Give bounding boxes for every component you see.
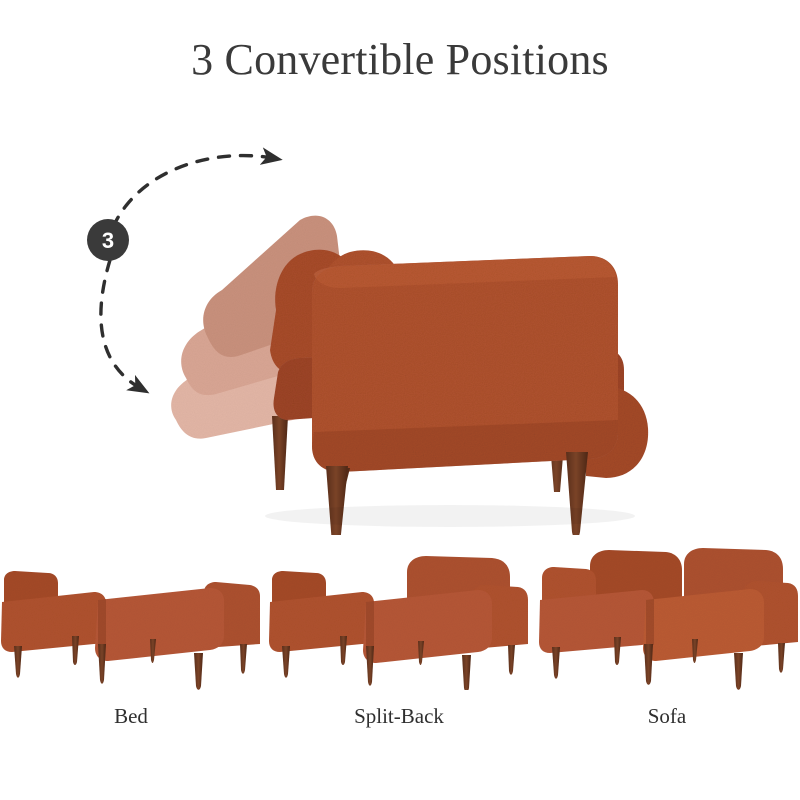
caption-split-back: Split-Back [266, 702, 532, 730]
split-leg-6 [508, 645, 515, 675]
bed-seat-right [95, 588, 224, 661]
split-leg-3 [366, 646, 374, 686]
thumbnail-split-back[interactable] [266, 540, 532, 690]
caption-bed: Bed [0, 702, 264, 730]
hero-illustration: 3 [0, 120, 800, 535]
split-leg-2 [340, 636, 347, 665]
bed-body [1, 571, 260, 661]
split-leg-1 [282, 646, 290, 678]
sofa-leg-5 [734, 653, 743, 690]
thumbnail-bed[interactable] [0, 540, 264, 690]
bed-leg-6 [240, 644, 247, 674]
bed-leg-5 [194, 653, 203, 690]
split-seam [366, 601, 374, 647]
product-infographic: 3 Convertible Positions [0, 0, 800, 800]
sofa-leg-1 [552, 647, 560, 679]
badge-number: 3 [102, 228, 114, 253]
step-badge: 3 [87, 219, 129, 261]
thumbnail-sofa[interactable] [534, 540, 800, 690]
split-leg-5 [462, 655, 471, 690]
sofa-main [265, 248, 648, 535]
bed-seat-left [1, 592, 106, 652]
sofa-leg-6 [778, 643, 785, 673]
caption-sofa: Sofa [534, 702, 800, 730]
sofa-seat-right [643, 589, 764, 661]
split-body [269, 556, 528, 663]
sofa-leg-2 [614, 637, 621, 665]
position-thumbnails [0, 540, 800, 710]
floor-shadow [265, 505, 635, 527]
sofa-seat-left [539, 590, 654, 653]
rotate-down-arrow [101, 260, 140, 388]
arm-panel-front [312, 248, 618, 472]
page-title: 3 Convertible Positions [0, 34, 800, 86]
sofa-body [539, 548, 798, 661]
bed-leg-3 [98, 644, 106, 684]
sofa-seam [646, 599, 654, 646]
bed-leg-2 [72, 636, 79, 665]
bed-seam [98, 599, 106, 645]
split-seat-right [363, 590, 492, 663]
leg-rear-left [272, 416, 288, 490]
bed-leg-1 [14, 646, 22, 678]
rotate-up-arrow [113, 156, 272, 227]
sofa-leg-3 [644, 644, 653, 685]
split-seat-left [269, 592, 374, 652]
